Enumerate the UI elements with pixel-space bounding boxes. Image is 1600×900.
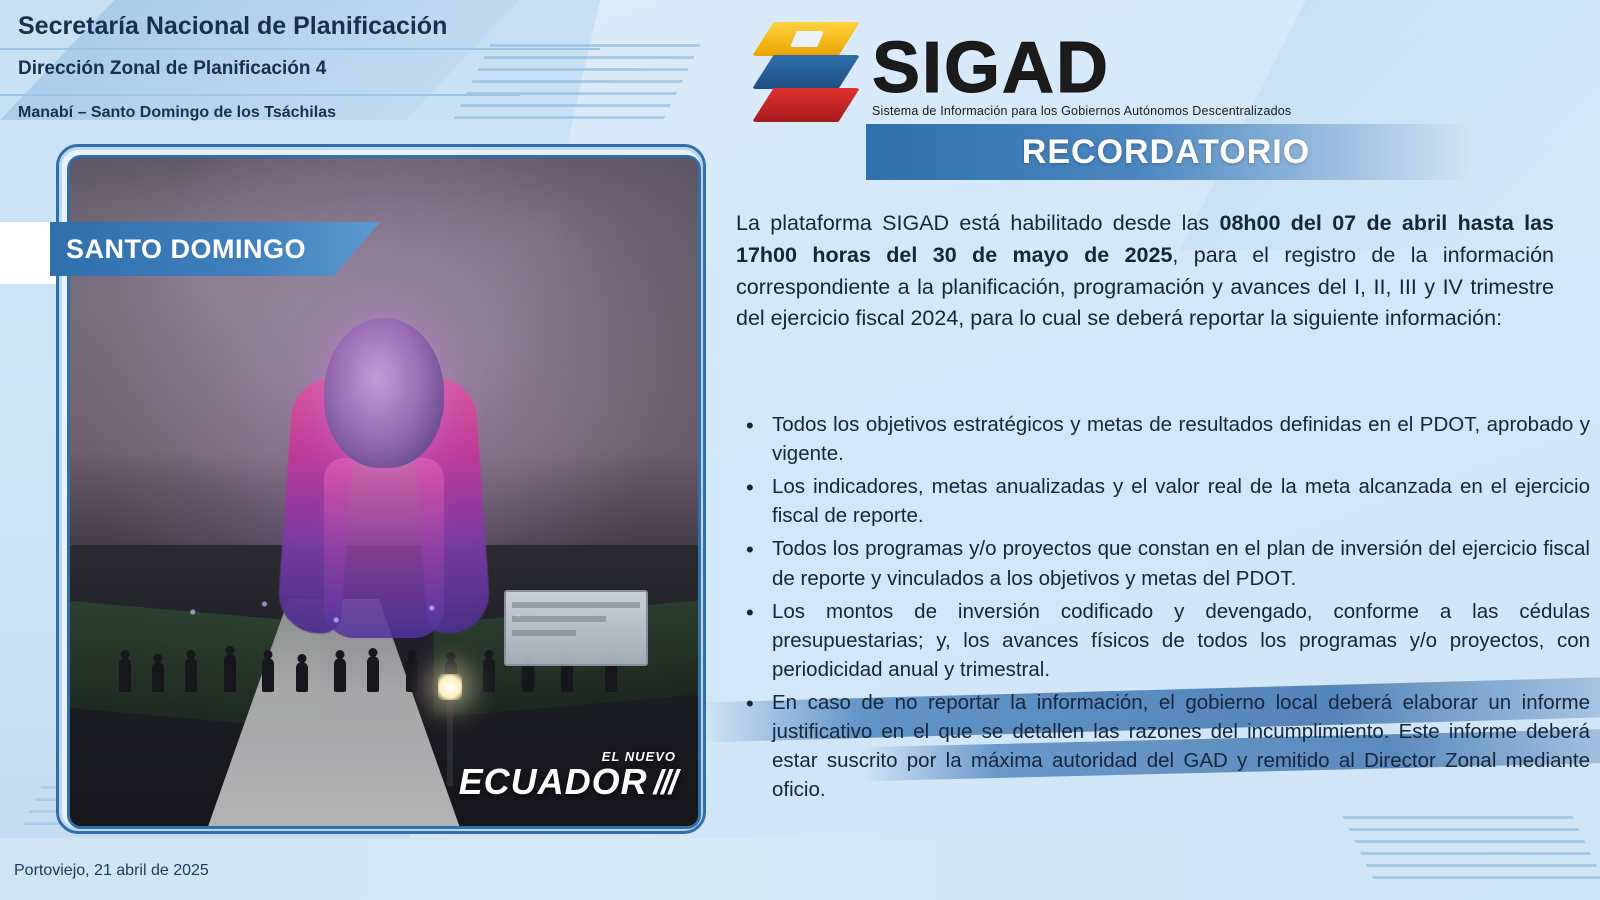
sigad-title: SIGAD (872, 34, 1291, 102)
requirements-list: Todos los objetivos estratégicos y metas… (736, 410, 1590, 808)
recordatorio-title: RECORDATORIO (1022, 133, 1310, 172)
list-item: En caso de no reportar la información, e… (772, 688, 1590, 804)
sigad-cube-icon (752, 22, 862, 130)
overlay-big-text: ECUADOR (459, 761, 648, 802)
recordatorio-banner: RECORDATORIO (866, 124, 1466, 180)
header-divider-2 (0, 94, 520, 96)
sculpture-face (324, 318, 444, 468)
photo-lamp-post (447, 696, 453, 786)
intro-text-part1: La plataforma SIGAD está habilitado desd… (736, 211, 1220, 235)
list-item: Todos los programas y/o proyectos que co… (772, 534, 1590, 592)
photo-overlay-logo: EL NUEVO ECUADOR/// (459, 749, 676, 800)
header-divider-1 (0, 48, 600, 50)
intro-paragraph: La plataforma SIGAD está habilitado desd… (736, 208, 1554, 335)
list-item: Todos los objetivos estratégicos y metas… (772, 410, 1590, 468)
list-item: Los montos de inversión codificado y dev… (772, 597, 1590, 684)
decorative-lines-bottom-right (1342, 816, 1600, 888)
sigad-subtitle: Sistema de Información para los Gobierno… (872, 104, 1291, 118)
provinces-label: Manabí – Santo Domingo de los Tsáchilas (18, 104, 336, 122)
city-badge-label: SANTO DOMINGO (66, 234, 306, 265)
sigad-wordmark: SIGAD Sistema de Información para los Go… (872, 34, 1291, 118)
zonal-office-name: Dirección Zonal de Planificación 4 (18, 58, 326, 80)
footer-note: Portoviejo, 21 abril de 2025 (14, 862, 209, 880)
sigad-logo: SIGAD Sistema de Información para los Go… (752, 22, 1291, 130)
institution-name: Secretaría Nacional de Planificación (18, 12, 447, 41)
city-badge: SANTO DOMINGO (50, 222, 380, 276)
list-item: Los indicadores, metas anualizadas y el … (772, 472, 1590, 530)
overlay-bars: /// (654, 766, 676, 800)
slide-canvas: Secretaría Nacional de Planificación Dir… (0, 0, 1600, 900)
photo-billboard (504, 590, 648, 666)
